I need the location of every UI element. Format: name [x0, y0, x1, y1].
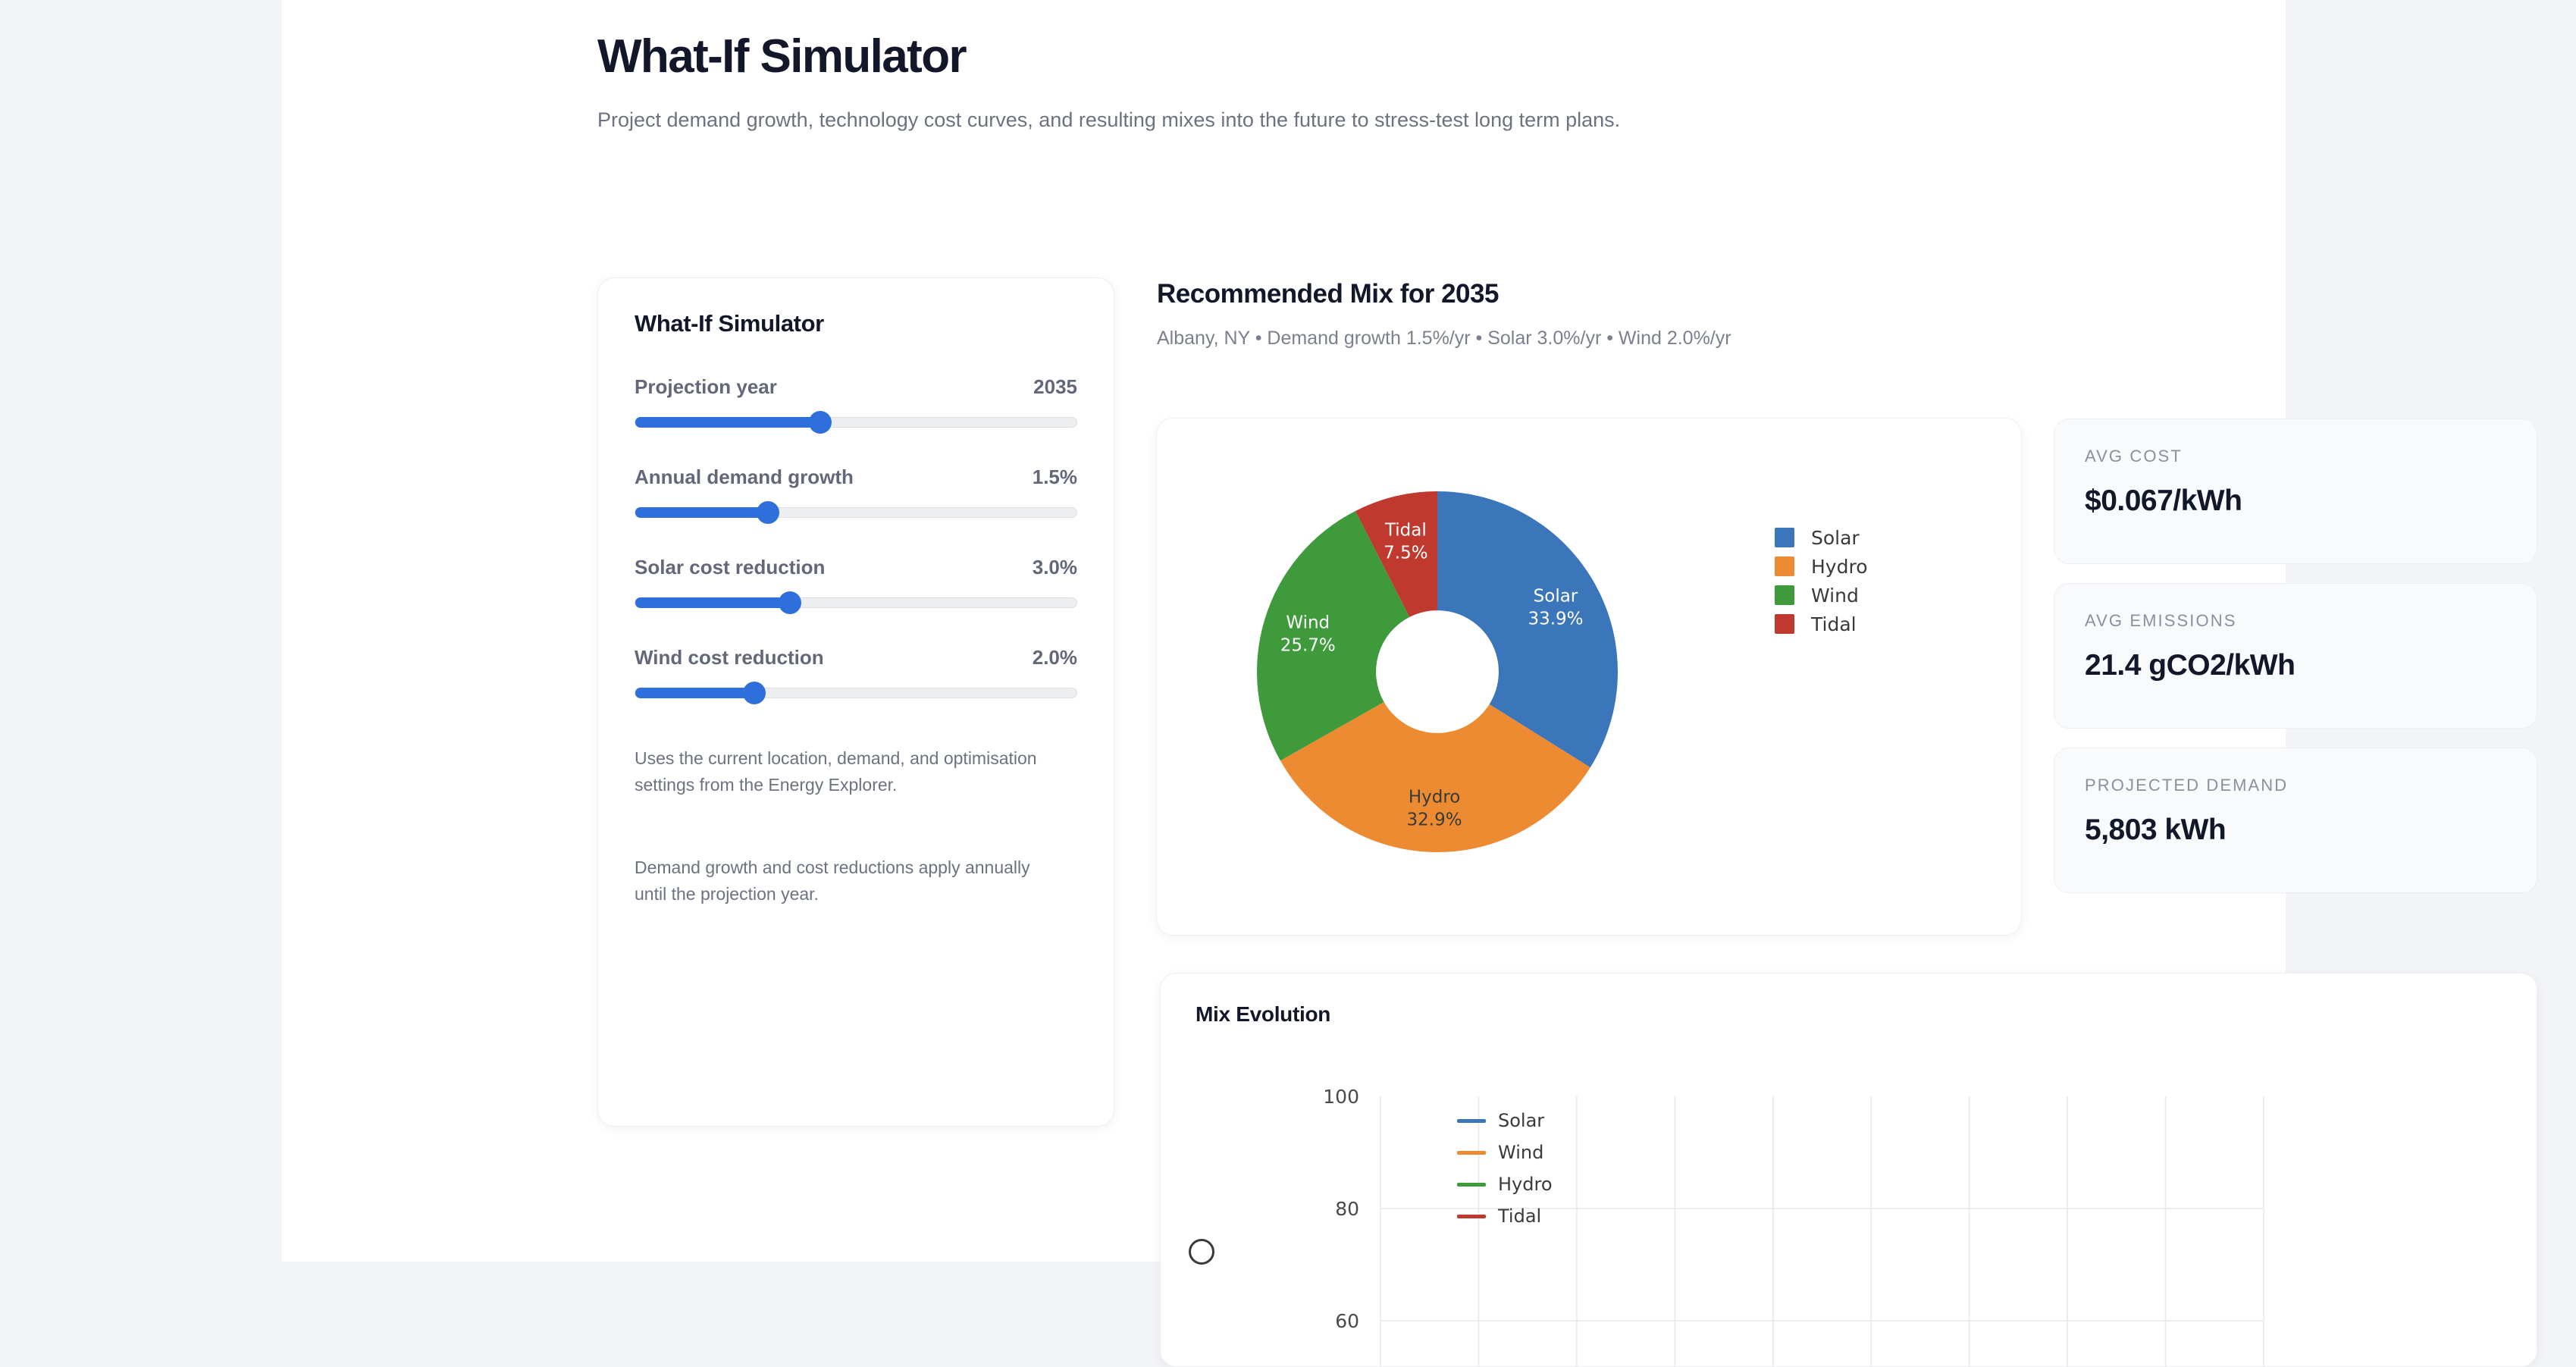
- legend-swatch-solar-icon: [1775, 528, 1794, 547]
- legend-label-tidal: Tidal: [1811, 613, 1857, 635]
- stat-label-avg-cost: AVG COST: [2085, 447, 2506, 466]
- donut-slice-label-hydro: Hydro: [1409, 787, 1461, 807]
- results-header: Recommended Mix for 2035 Albany, NY • De…: [1157, 279, 1731, 350]
- line-legend-label-wind: Wind: [1498, 1142, 1543, 1163]
- line-legend-dash-hydro-icon: [1457, 1183, 1486, 1187]
- stat-card-projected-demand: PROJECTED DEMAND 5,803 kWh: [2054, 748, 2537, 893]
- page-title: What-If Simulator: [597, 30, 2114, 83]
- page-header: What-If Simulator Project demand growth,…: [597, 30, 2114, 135]
- slider-group-wind-cost-reduction: Wind cost reduction 2.0%: [635, 646, 1077, 698]
- slider-annual-demand-growth[interactable]: [635, 507, 1077, 518]
- donut-slice-solar[interactable]: [1437, 491, 1618, 767]
- mix-evolution-legend: Solar Wind Hydro Tidal: [1457, 1107, 1654, 1234]
- y-axis-tick-label: 80: [1335, 1198, 1359, 1220]
- mix-donut-chart: Solar33.9%Hydro32.9%Wind25.7%Tidal7.5%: [1202, 437, 1672, 907]
- slider-thumb-projection-year[interactable]: [809, 411, 832, 434]
- stat-value-projected-demand: 5,803 kWh: [2085, 814, 2506, 847]
- app-root: What-If Simulator Project demand growth,…: [0, 0, 2576, 1262]
- stat-value-avg-emissions: 21.4 gCO2/kWh: [2085, 649, 2506, 682]
- slider-wind-cost-reduction[interactable]: [635, 688, 1077, 698]
- slider-thumb-solar-cost-reduction[interactable]: [779, 591, 801, 614]
- mix-evolution-card: Mix Evolution 1008060: [1160, 973, 2537, 1367]
- slider-value-wind-cost-reduction: 2.0%: [1033, 646, 1077, 669]
- line-legend-label-solar: Solar: [1498, 1110, 1544, 1131]
- donut-slice-label-hydro: 32.9%: [1407, 810, 1462, 829]
- legend-item-wind[interactable]: Wind: [1775, 581, 1868, 610]
- y-axis-tick-label: 60: [1335, 1310, 1359, 1332]
- page-subtitle: Project demand growth, technology cost c…: [597, 105, 1651, 134]
- panel-note-behaviour: Demand growth and cost reductions apply …: [635, 854, 1051, 908]
- donut-legend: Solar Hydro Wind Tidal: [1775, 523, 1868, 638]
- control-panel-notes: Uses the current location, demand, and o…: [635, 745, 1077, 908]
- donut-svg: Solar33.9%Hydro32.9%Wind25.7%Tidal7.5%: [1202, 437, 1672, 907]
- slider-label-solar-cost-reduction: Solar cost reduction: [635, 556, 825, 579]
- what-if-control-panel: What-If Simulator Projection year 2035 A…: [597, 277, 1114, 1127]
- stat-label-projected-demand: PROJECTED DEMAND: [2085, 776, 2506, 795]
- slider-fill-wind-cost-reduction: [635, 688, 754, 698]
- line-legend-dash-solar-icon: [1457, 1119, 1486, 1123]
- slider-fill-annual-demand-growth: [635, 507, 768, 518]
- slider-value-annual-demand-growth: 1.5%: [1033, 466, 1077, 489]
- donut-slice-label-tidal: Tidal: [1384, 521, 1427, 541]
- slider-label-wind-cost-reduction: Wind cost reduction: [635, 646, 824, 669]
- slider-label-annual-demand-growth: Annual demand growth: [635, 466, 854, 489]
- line-legend-dash-wind-icon: [1457, 1151, 1486, 1155]
- donut-slice-label-solar: 33.9%: [1528, 610, 1583, 629]
- axis-corner-glyph-icon: [1189, 1239, 1214, 1265]
- stat-card-avg-cost: AVG COST $0.067/kWh: [2054, 419, 2537, 564]
- donut-slice-label-wind: 25.7%: [1280, 636, 1336, 656]
- slider-thumb-wind-cost-reduction[interactable]: [743, 682, 766, 704]
- slider-header-projection-year: Projection year 2035: [635, 375, 1077, 399]
- slider-value-projection-year: 2035: [1033, 375, 1077, 399]
- stat-card-avg-emissions: AVG EMISSIONS 21.4 gCO2/kWh: [2054, 583, 2537, 729]
- slider-fill-solar-cost-reduction: [635, 597, 790, 608]
- mix-evolution-plot: 1008060: [1161, 974, 2537, 1367]
- legend-item-hydro[interactable]: Hydro: [1775, 552, 1868, 581]
- slider-projection-year[interactable]: [635, 417, 1077, 428]
- legend-label-wind: Wind: [1811, 585, 1859, 607]
- panel-note-source: Uses the current location, demand, and o…: [635, 745, 1051, 798]
- legend-item-tidal[interactable]: Tidal: [1775, 610, 1868, 638]
- line-legend-item-hydro[interactable]: Hydro: [1457, 1171, 1654, 1198]
- line-legend-item-wind[interactable]: Wind: [1457, 1139, 1654, 1166]
- stat-label-avg-emissions: AVG EMISSIONS: [2085, 611, 2506, 631]
- donut-slice-label-tidal: 7.5%: [1384, 544, 1427, 563]
- content-surface: What-If Simulator Project demand growth,…: [282, 0, 2286, 1262]
- slider-group-projection-year: Projection year 2035: [635, 375, 1077, 428]
- slider-header-wind-cost-reduction: Wind cost reduction 2.0%: [635, 646, 1077, 669]
- line-legend-item-tidal[interactable]: Tidal: [1457, 1202, 1654, 1230]
- results-title: Recommended Mix for 2035: [1157, 279, 1731, 309]
- slider-solar-cost-reduction[interactable]: [635, 597, 1077, 608]
- slider-value-solar-cost-reduction: 3.0%: [1033, 556, 1077, 579]
- legend-label-solar: Solar: [1811, 527, 1860, 549]
- legend-label-hydro: Hydro: [1811, 556, 1868, 578]
- legend-swatch-wind-icon: [1775, 585, 1794, 605]
- slider-group-solar-cost-reduction: Solar cost reduction 3.0%: [635, 556, 1077, 608]
- line-legend-label-hydro: Hydro: [1498, 1174, 1553, 1195]
- donut-slice-label-wind: Wind: [1286, 613, 1330, 633]
- line-legend-dash-tidal-icon: [1457, 1215, 1486, 1218]
- donut-slice-label-solar: Solar: [1534, 587, 1578, 607]
- slider-thumb-annual-demand-growth[interactable]: [757, 501, 779, 524]
- stat-card-column: AVG COST $0.067/kWh AVG EMISSIONS 21.4 g…: [2054, 419, 2537, 912]
- stat-value-avg-cost: $0.067/kWh: [2085, 484, 2506, 518]
- slider-header-annual-demand-growth: Annual demand growth 1.5%: [635, 466, 1077, 489]
- y-axis-tick-label: 100: [1323, 1086, 1359, 1108]
- slider-label-projection-year: Projection year: [635, 375, 777, 399]
- line-legend-item-solar[interactable]: Solar: [1457, 1107, 1654, 1134]
- slider-header-solar-cost-reduction: Solar cost reduction 3.0%: [635, 556, 1077, 579]
- legend-swatch-tidal-icon: [1775, 614, 1794, 634]
- line-legend-label-tidal: Tidal: [1498, 1206, 1541, 1227]
- results-meta: Albany, NY • Demand growth 1.5%/yr • Sol…: [1157, 328, 1731, 350]
- control-panel-title: What-If Simulator: [635, 310, 1077, 337]
- recommended-mix-card: Solar33.9%Hydro32.9%Wind25.7%Tidal7.5% S…: [1156, 418, 2022, 936]
- slider-group-annual-demand-growth: Annual demand growth 1.5%: [635, 466, 1077, 518]
- legend-swatch-hydro-icon: [1775, 557, 1794, 576]
- slider-fill-projection-year: [635, 417, 820, 428]
- legend-item-solar[interactable]: Solar: [1775, 523, 1868, 552]
